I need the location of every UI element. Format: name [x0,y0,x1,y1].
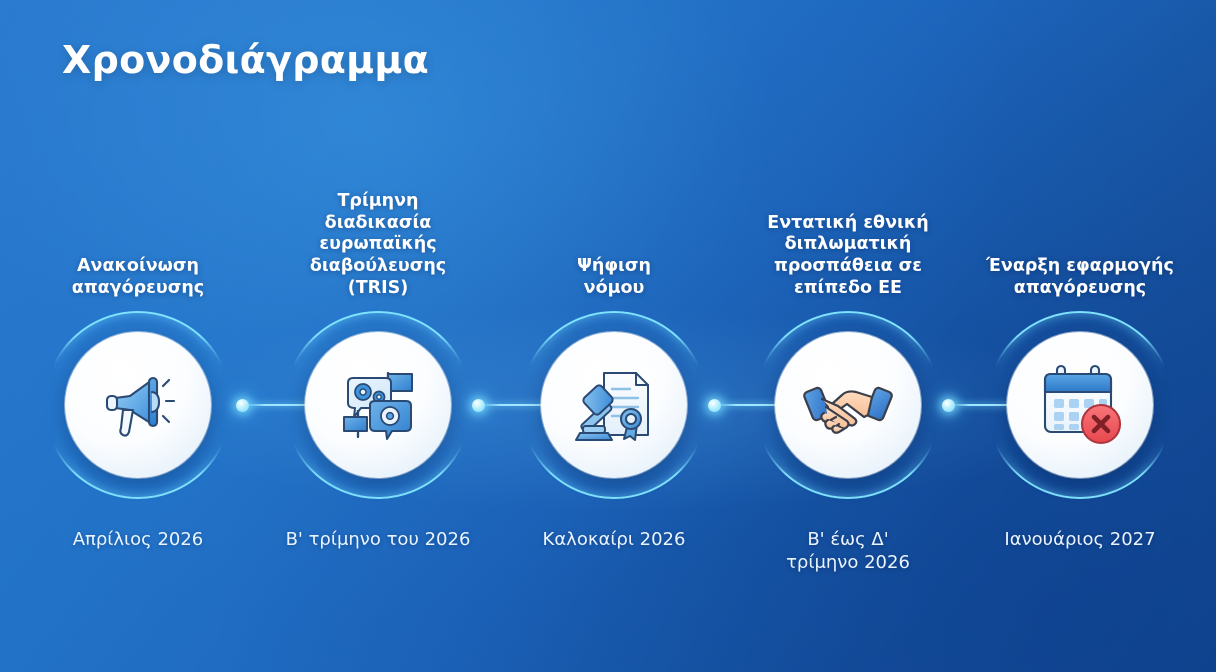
gavel-document-icon [570,361,658,449]
timeline: Ανακοίνωσηαπαγόρευσης [0,0,1216,672]
step-node[interactable] [44,311,232,499]
handshake-icon [802,359,894,451]
calendar-blocked-icon [1035,360,1125,450]
timeline-slide: Χρονοδιάγραμμα Ανακοίνωσηαπαγόρευσης [0,0,1216,672]
step-label: Τρίμηνηδιαδικασίαευρωπαϊκήςδιαβούλευσης(… [263,191,493,300]
step-label: Ανακοίνωσηαπαγόρευσης [23,256,253,300]
node-disc [65,332,211,478]
step-label: Εντατική εθνικήδιπλωματικήπροσπάθεια σεε… [733,213,963,301]
node-disc [775,332,921,478]
node-disc [1007,332,1153,478]
node-disc [541,332,687,478]
step-node[interactable] [284,311,472,499]
step-date: Απρίλιος 2026 [23,528,253,551]
step-date: Ιανουάριος 2027 [965,528,1195,551]
timeline-step-announcement[interactable]: Ανακοίνωσηαπαγόρευσης [23,0,253,672]
timeline-step-eu-consultation[interactable]: Τρίμηνηδιαδικασίαευρωπαϊκήςδιαβούλευσης(… [263,0,493,672]
timeline-step-diplomacy[interactable]: Εντατική εθνικήδιπλωματικήπροσπάθεια σεε… [733,0,963,672]
step-node[interactable] [754,311,942,499]
step-label: Έναρξη εφαρμογήςαπαγόρευσης [965,256,1195,300]
step-label: Ψήφισηνόμου [499,256,729,300]
step-node[interactable] [986,311,1174,499]
step-date: Καλοκαίρι 2026 [499,528,729,551]
consultation-bubbles-icon [334,361,422,449]
step-date: Β' τρίμηνο του 2026 [263,528,493,551]
megaphone-icon [95,362,181,448]
step-date: Β' έως Δ'τρίμηνο 2026 [733,528,963,575]
timeline-step-enforcement[interactable]: Έναρξη εφαρμογήςαπαγόρευσης [965,0,1195,672]
step-node[interactable] [520,311,708,499]
node-disc [305,332,451,478]
timeline-step-law-vote[interactable]: Ψήφισηνόμου [499,0,729,672]
